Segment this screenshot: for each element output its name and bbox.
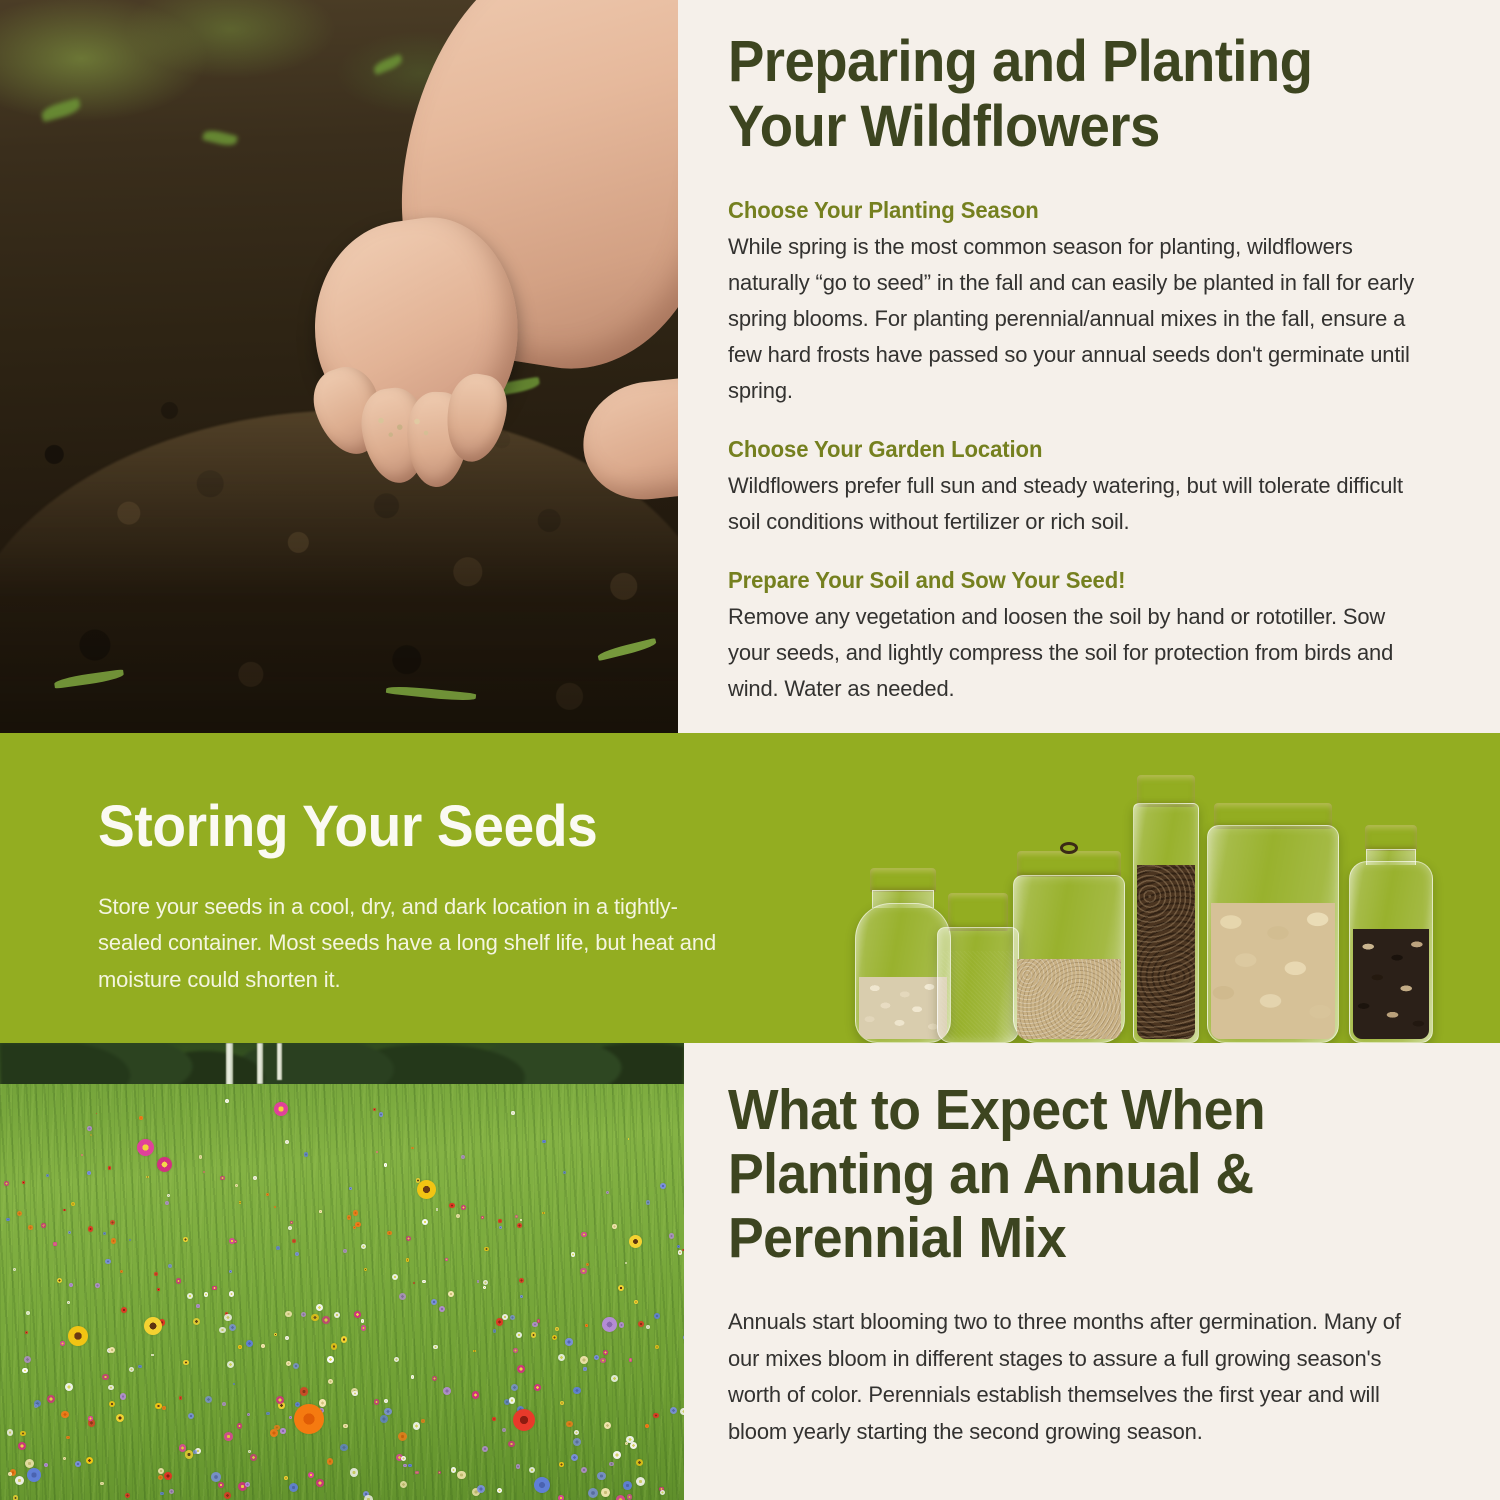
wildflower-bloom <box>311 1314 318 1321</box>
wildflower-bloom <box>280 1428 285 1433</box>
wildflower-bloom <box>660 1490 665 1495</box>
wildflower-bloom <box>225 1099 229 1103</box>
wildflower-bloom <box>139 1116 143 1120</box>
wildflower-bloom <box>322 1316 330 1324</box>
wildflower-bloom <box>183 1237 188 1242</box>
wildflower-bloom <box>90 1134 92 1136</box>
wildflower-bloom <box>111 1238 116 1243</box>
wildflower-bloom <box>237 1423 242 1428</box>
wildflower-bloom <box>481 1216 484 1219</box>
wildflower-bloom <box>678 1250 683 1255</box>
wildflower-bloom <box>603 1350 608 1355</box>
wildflower-bloom <box>509 1397 515 1403</box>
wildflower-bloom <box>157 1288 160 1291</box>
wildflower-bloom <box>261 1344 265 1348</box>
wildflower-bloom <box>498 1219 502 1223</box>
wildflower-bloom <box>165 1201 169 1205</box>
jar-glass <box>1013 875 1125 1043</box>
wildflower-bloom <box>183 1360 188 1365</box>
wildflower-bloom <box>63 1209 65 1211</box>
wildflower-bloom <box>274 1425 279 1430</box>
wildflower-bloom <box>355 1222 361 1228</box>
wildflower-bloom <box>289 1416 292 1419</box>
wildflower-bloom <box>392 1274 398 1280</box>
paragraph-planting-season: While spring is the most common season f… <box>728 229 1428 409</box>
seed-fill <box>941 951 1015 1039</box>
wildflower-bloom <box>25 1331 28 1334</box>
wildflower-bloom-large <box>274 1102 288 1116</box>
wildflower-bloom <box>270 1429 278 1437</box>
wildflower-bloom <box>565 1338 572 1345</box>
wildflower-bloom-large <box>602 1317 617 1332</box>
wildflower-bloom <box>484 1247 488 1251</box>
wildflower-bloom <box>340 1444 347 1451</box>
wildflower-bloom <box>349 1187 352 1190</box>
wildflower-bloom <box>449 1203 454 1208</box>
wildflower-bloom <box>601 1488 610 1497</box>
wildflower-bloom <box>196 1304 200 1308</box>
wildflower-bloom <box>88 1226 93 1231</box>
wildflower-bloom <box>508 1441 514 1447</box>
wildflower-bloom-large <box>294 1404 324 1434</box>
wildflower-bloom <box>69 1283 73 1287</box>
wildflower-bloom <box>222 1402 226 1406</box>
wildflower-bloom <box>46 1174 49 1177</box>
wildflower-bloom <box>193 1450 197 1454</box>
wildflower-bloom <box>22 1181 25 1184</box>
wildflower-bloom <box>625 1442 628 1445</box>
wildflower-bloom <box>432 1376 437 1381</box>
wildflower-bloom <box>443 1387 451 1395</box>
wildflower-bloom <box>138 1365 142 1369</box>
wildflower-bloom <box>193 1318 200 1325</box>
wildflower-bloom <box>374 1399 380 1405</box>
wildflower-bloom <box>555 1327 559 1331</box>
wildflower-bloom-large <box>137 1139 154 1156</box>
wildflower-bloom <box>146 1176 148 1178</box>
seed-fill <box>1211 903 1335 1039</box>
wildflower-bloom <box>288 1226 292 1230</box>
wildflower-bloom <box>211 1472 221 1482</box>
wildflower-bloom <box>22 1368 27 1373</box>
preparing-text-column: Preparing and Planting Your Wildflowers … <box>728 0 1446 733</box>
jar-glass <box>1133 803 1199 1043</box>
wildflower-bloom <box>187 1293 193 1299</box>
wildflower-bloom <box>406 1258 410 1262</box>
wildflower-bloom <box>406 1236 411 1241</box>
wildflower-bloom <box>571 1454 578 1461</box>
wildflower-bloom <box>627 1494 632 1499</box>
wildflower-bloom <box>451 1467 456 1472</box>
jar-glass <box>937 927 1019 1043</box>
wildflower-bloom <box>53 1242 56 1245</box>
wildflower-bloom <box>352 1391 358 1397</box>
storing-title: Storing Your Seeds <box>98 795 716 859</box>
wildflower-bloom <box>57 1278 62 1283</box>
wildflower-bloom <box>573 1387 581 1395</box>
wildflower-bloom <box>229 1270 232 1273</box>
wildflower-bloom <box>285 1336 289 1340</box>
wildflower-bloom <box>276 1396 284 1404</box>
wildflower-bloom <box>108 1385 113 1390</box>
wildflower-bloom <box>531 1332 536 1337</box>
wildflower-bloom <box>645 1424 649 1428</box>
wildflower-bloom <box>224 1432 233 1441</box>
wildflower-bloom <box>542 1140 546 1144</box>
wildflower-bloom <box>573 1438 581 1446</box>
wildflower-meadow-photo <box>0 1043 684 1500</box>
wildflower-bloom <box>26 1311 30 1315</box>
jar-tan-seeds <box>1013 851 1125 1043</box>
expect-title: What to Expect When Planting an Annual &… <box>728 1043 1405 1270</box>
wildflower-bloom <box>483 1280 488 1285</box>
section-what-to-expect: What to Expect When Planting an Annual &… <box>0 1043 1500 1500</box>
infographic-page: Preparing and Planting Your Wildflowers … <box>0 0 1500 1500</box>
wildflower-bloom <box>542 1212 544 1214</box>
wildflower-bloom <box>300 1387 309 1396</box>
wildflower-bloom <box>13 1268 16 1271</box>
cork-lid <box>948 893 1008 931</box>
wildflower-bloom <box>75 1461 81 1467</box>
wildflower-bloom <box>361 1319 364 1322</box>
wildflower-bloom <box>558 1354 565 1361</box>
cork-lid <box>870 868 936 892</box>
wildflower-bloom <box>612 1224 617 1229</box>
wildflower-bloom <box>88 1416 93 1421</box>
wildflower-bloom <box>331 1343 337 1349</box>
seed-fill <box>1353 929 1429 1039</box>
wildflower-bloom <box>15 1476 24 1485</box>
wildflower-bloom <box>102 1374 108 1380</box>
seed-fill <box>859 977 947 1039</box>
wildflower-bloom <box>496 1318 503 1325</box>
wildflower-bloom <box>7 1429 13 1435</box>
wildflower-bloom <box>457 1471 466 1480</box>
wildflower-bloom <box>218 1482 224 1488</box>
wildflower-bloom <box>121 1307 127 1313</box>
wildflower-bloom <box>13 1495 18 1500</box>
wildflower-bloom <box>559 1462 563 1466</box>
wildflower-bloom <box>421 1419 424 1422</box>
wildflower-bloom <box>234 1240 237 1243</box>
wildflower-bloom <box>276 1246 280 1250</box>
wildflower-bloom <box>401 1456 406 1461</box>
wildflower-bloom <box>461 1205 466 1210</box>
wildflower-bloom <box>120 1393 127 1400</box>
jar-sunflower-seeds <box>1349 825 1433 1043</box>
birch-trunk <box>277 1043 282 1080</box>
wildflower-bloom <box>6 1218 10 1222</box>
wildflower-bloom <box>609 1462 613 1466</box>
wildflower-bloom <box>34 1404 38 1408</box>
cork-lid <box>1365 825 1417 851</box>
cork-lid <box>1017 851 1121 877</box>
wildflower-bloom <box>581 1467 587 1473</box>
jar-black-seeds <box>937 893 1019 1043</box>
wildflower-bloom <box>361 1325 367 1331</box>
wildflower-bloom <box>229 1291 235 1297</box>
wildflower-bloom <box>510 1315 515 1320</box>
wildflower-bloom <box>295 1402 300 1407</box>
wildflower-bloom <box>343 1249 347 1253</box>
wildflower-bloom <box>108 1166 112 1170</box>
wildflower-bloom <box>66 1436 70 1440</box>
paragraph-garden-location: Wildflowers prefer full sun and steady w… <box>728 468 1428 540</box>
wildflower-bloom <box>350 1468 359 1477</box>
wildflower-bloom <box>379 1112 383 1116</box>
wildflower-bloom <box>341 1336 348 1343</box>
wildflower-bloom <box>266 1412 269 1415</box>
seed-fill <box>1137 865 1195 1039</box>
wildflower-bloom <box>473 1350 476 1353</box>
subheading-planting-season: Choose Your Planting Season <box>728 196 1417 226</box>
wildflower-bloom <box>403 1464 406 1467</box>
wildflower-bloom <box>588 1488 598 1498</box>
wildflower-bloom <box>669 1233 674 1238</box>
wildflower-bloom <box>319 1399 327 1407</box>
wildflower-bloom-large <box>534 1477 550 1493</box>
wildflower-bloom <box>613 1451 621 1459</box>
subheading-garden-location: Choose Your Garden Location <box>728 435 1417 465</box>
wildflower-bloom <box>597 1472 605 1480</box>
wildflower-bloom <box>571 1252 576 1257</box>
wildflower-bloom <box>334 1312 340 1318</box>
wildflower-bloom <box>162 1406 165 1409</box>
wildflower-bloom <box>583 1367 586 1370</box>
wildflower-bloom <box>343 1424 347 1428</box>
grass-texture <box>0 1084 684 1500</box>
birch-trunk <box>257 1043 263 1084</box>
wildflower-bloom <box>364 1495 373 1500</box>
wildflower-bloom <box>239 1201 241 1203</box>
wildflower-bloom <box>86 1457 93 1464</box>
wildflower-bloom <box>511 1111 514 1114</box>
wildflower-bloom <box>502 1314 508 1320</box>
wildflower-bloom <box>212 1286 217 1291</box>
wildflower-bloom <box>600 1358 605 1363</box>
wildflower-bloom <box>636 1459 643 1466</box>
wildflower-bloom <box>100 1482 104 1486</box>
wildflower-bloom <box>677 1245 680 1248</box>
wildflower-bloom <box>619 1322 624 1327</box>
wildflower-bloom <box>580 1356 588 1364</box>
wildflower-bloom <box>17 1211 22 1216</box>
wildflower-bloom <box>448 1291 454 1297</box>
section-storing-your-seeds: Storing Your Seeds Store your seeds in a… <box>0 733 1500 1043</box>
seeds-in-hand <box>366 403 441 447</box>
seed-storage-jars-photo <box>845 743 1445 1043</box>
wildflower-bloom <box>61 1411 68 1418</box>
wildflower-bloom <box>682 1249 684 1252</box>
wildflower-bloom <box>353 1210 358 1215</box>
wildflower-bloom <box>638 1321 644 1327</box>
wildflower-bloom <box>224 1314 231 1321</box>
jar-dark-brown-seeds <box>1133 775 1199 1043</box>
jar-pumpkin-seeds <box>1207 803 1339 1043</box>
wildflower-bloom <box>327 1458 334 1465</box>
wildflower-bloom <box>516 1464 520 1468</box>
wildflower-bloom <box>380 1415 388 1423</box>
wildflower-bloom <box>24 1356 31 1363</box>
wildflower-bloom <box>301 1312 306 1317</box>
wildflower-bloom <box>247 1413 250 1416</box>
wildflower-bloom <box>364 1268 367 1271</box>
wildflower-bloom <box>680 1408 684 1416</box>
wildflower-bloom <box>683 1335 684 1340</box>
wildflower-bloom <box>532 1322 537 1327</box>
wildflower-bloom <box>87 1126 92 1131</box>
wildflower-bloom <box>511 1384 518 1391</box>
wildflower-bloom <box>185 1450 193 1458</box>
page-title: Preparing and Planting Your Wildflowers <box>728 0 1403 160</box>
wildflower-bloom <box>581 1232 587 1238</box>
wildflower-bloom <box>160 1492 164 1496</box>
wildflower-bloom <box>4 1181 9 1186</box>
wildflower-bloom <box>109 1401 115 1407</box>
wildflower-bloom <box>433 1345 438 1350</box>
wildflower-bloom <box>95 1283 100 1288</box>
wildflower-bloom-large <box>513 1409 535 1431</box>
wildflower-bloom <box>219 1327 225 1333</box>
wildflower-bloom <box>304 1152 308 1156</box>
jar-glass <box>1207 825 1339 1043</box>
hands-sowing-seeds-in-soil-photo <box>0 0 678 733</box>
seed-fill <box>1017 959 1121 1039</box>
storing-paragraph: Store your seeds in a cool, dry, and dar… <box>98 889 732 998</box>
wildflower-bloom <box>289 1483 298 1492</box>
storing-text-column: Storing Your Seeds Store your seeds in a… <box>98 795 748 998</box>
wildflower-bloom <box>20 1431 25 1436</box>
wildflower-bloom <box>387 1231 391 1235</box>
wildflower-bloom <box>290 1221 293 1224</box>
wildflower-bloom <box>384 1408 392 1416</box>
wildflower-bloom <box>205 1396 212 1403</box>
jar-glass <box>1349 861 1433 1043</box>
paragraph-prepare-soil: Remove any vegetation and loosen the soi… <box>728 599 1428 707</box>
wildflower-bloom <box>585 1324 588 1327</box>
wildflower-bloom <box>534 1384 541 1391</box>
wildflower-bloom <box>398 1432 407 1441</box>
wildflower-bloom <box>558 1495 564 1500</box>
wildflower-bloom <box>155 1403 161 1409</box>
expect-text-column: What to Expect When Planting an Annual &… <box>728 1043 1448 1500</box>
wildflower-bloom <box>28 1225 32 1229</box>
wildflower-bloom <box>110 1220 115 1225</box>
wildflower-bloom <box>529 1467 535 1473</box>
expect-paragraph: Annuals start blooming two to three mont… <box>728 1304 1430 1450</box>
wildflower-bloom-large <box>144 1317 162 1335</box>
wildflower-bloom <box>354 1311 361 1318</box>
subheading-prepare-soil: Prepare Your Soil and Sow Your Seed! <box>728 566 1417 596</box>
wildflower-bloom <box>399 1293 406 1300</box>
wildflower-bloom <box>634 1300 638 1304</box>
wildflower-bloom <box>250 1454 257 1461</box>
wildflower-bloom <box>220 1176 224 1180</box>
wildflower-bloom <box>646 1200 650 1204</box>
wildflower-bloom <box>103 1232 106 1235</box>
wildflower-bloom <box>319 1210 322 1213</box>
wildflower-bloom <box>513 1348 518 1353</box>
section-preparing-and-planting: Preparing and Planting Your Wildflowers … <box>0 0 1500 733</box>
